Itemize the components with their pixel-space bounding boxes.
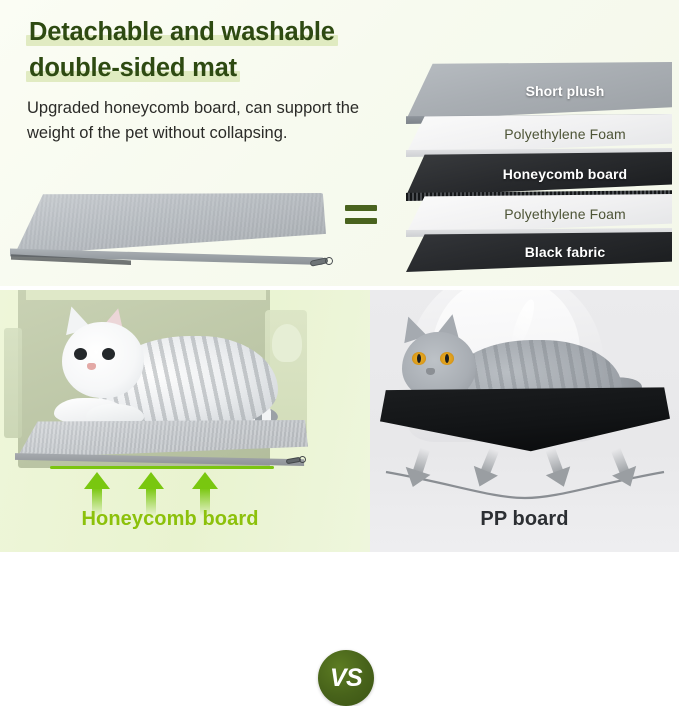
layer-black-fabric: Black fabric [406,232,672,272]
cat-head [62,322,144,398]
title-line-2-text: double-sided mat [29,54,237,82]
cat-eye-left [74,348,87,360]
title-line-1-text: Detachable and washable [29,18,335,46]
layer-honeycomb-board: Honeycomb board [406,152,672,196]
title-line-1: Detachable and washable [26,16,338,48]
layer-short-plush: Short plush [406,62,672,120]
cat-photo-silver-tabby [40,306,280,436]
page-title: Detachable and washable double-sided mat [26,16,426,88]
equals-sign-icon [345,205,377,231]
comparison-section: Honeycomb board [0,290,679,552]
cat-nose [87,363,96,370]
cat-nose [426,368,435,375]
layer-label: Polyethylene Foam [504,126,626,142]
label-honeycomb-board: Honeycomb board [0,508,340,531]
top-feature-section: Detachable and washable double-sided mat… [0,0,679,288]
title-line-2: double-sided mat [26,52,240,84]
layer-label: Honeycomb board [503,166,627,182]
cat-eye-left [412,352,426,365]
mat-top-surface [14,420,308,458]
mat-product-photo [8,193,338,283]
layer-stack-diagram: Short plush Polyethylene Foam Honeycomb … [406,62,672,270]
zipper-pull-icon [308,256,334,268]
honeycomb-mat-flat [14,420,308,468]
vs-label: VS [330,666,362,691]
subcopy-text: Upgraded honeycomb board, can support th… [27,96,399,146]
comparison-panel-pp-board: PP board [370,290,679,552]
carrier-top-edge [26,290,266,300]
vs-badge: VS [318,650,374,706]
comparison-panel-honeycomb: Honeycomb board [0,290,370,552]
zipper-pull-icon [286,456,308,466]
mat-top-surface [8,193,326,255]
cat-eye-right [102,348,115,360]
layer-polyethylene-foam-bottom: Polyethylene Foam [406,194,672,234]
support-baseline [50,466,274,469]
layer-label: Polyethylene Foam [504,206,626,222]
mat-side-edge [15,452,307,466]
layer-label: Black fabric [525,244,606,260]
label-pp-board: PP board [370,508,679,531]
collapse-arrows-down [384,448,666,506]
layer-polyethylene-foam-top: Polyethylene Foam [406,114,672,154]
layer-label: Short plush [526,83,605,99]
cat-eye-right [440,352,454,365]
